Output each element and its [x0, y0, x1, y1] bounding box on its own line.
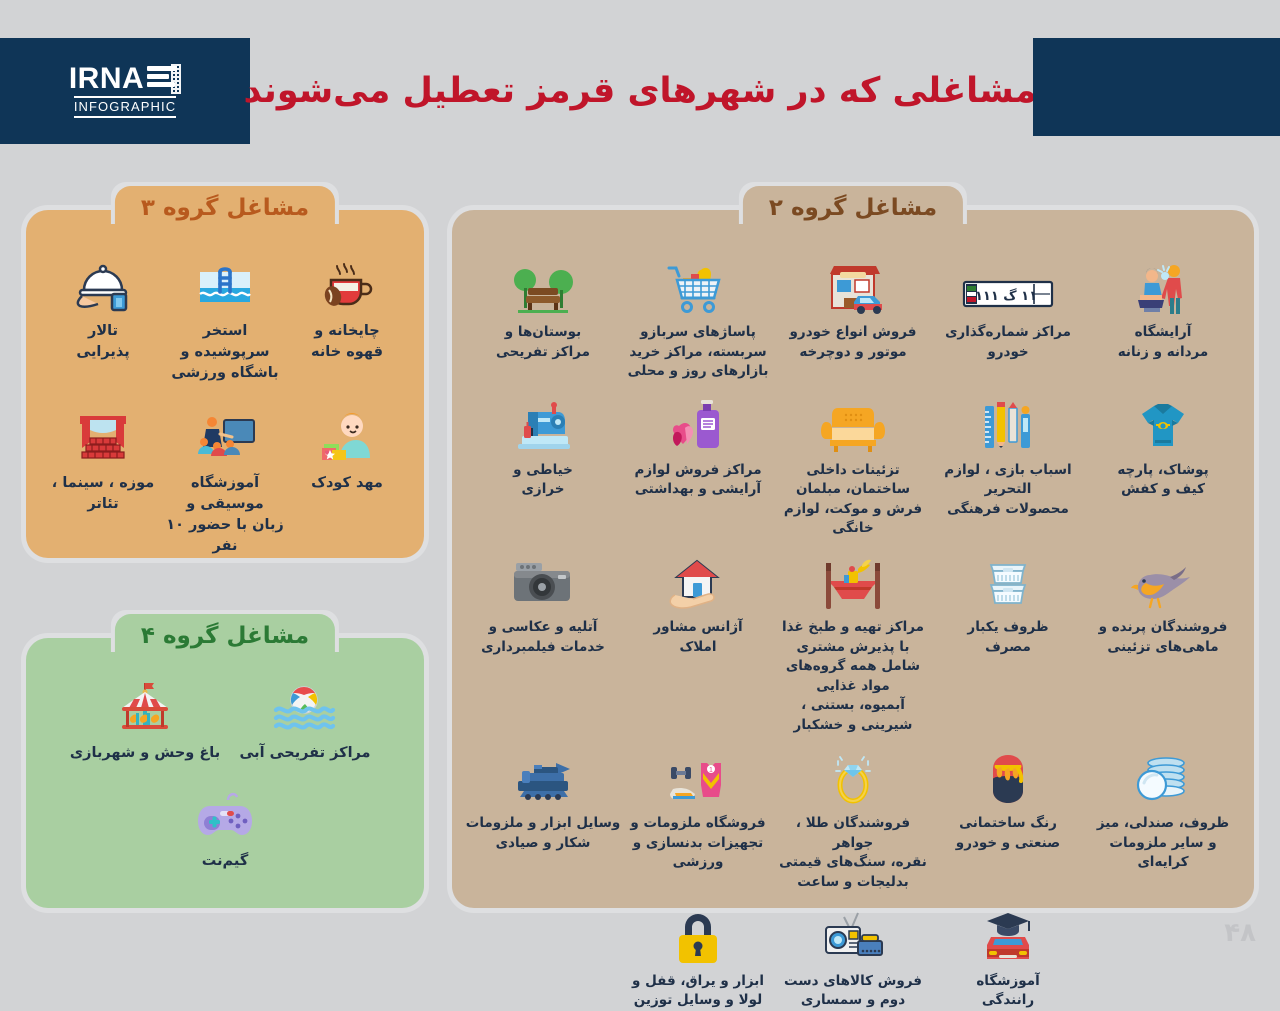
clothing-icon	[1132, 394, 1194, 456]
job-item: بوستان‌ها ومراکز تفریحی	[466, 256, 621, 362]
job-row: چایخانه وقهوه خانهاستخر سرپوشیده وباشگاه…	[40, 254, 410, 384]
job-item: آموزشگاه موسیقی وزبان با حضور ۱۰ نفر	[164, 406, 286, 557]
irna-wordmark: IRNA	[69, 64, 144, 94]
group-4-items: مراکز تفریحی آبیباغ وحش و شهربازیگیم‌نت	[26, 676, 424, 872]
job-item-label: فروشندگان پرنده وماهی‌های تزئینی	[1099, 618, 1228, 657]
jewelry-ring-icon	[824, 747, 882, 809]
carousel-icon	[110, 676, 180, 738]
job-item-label: آژانس مشاوراملاک	[653, 618, 742, 657]
job-item-label: فروش کالاهای دستدوم و سمساری	[784, 972, 922, 1011]
park-bench-icon	[508, 256, 578, 318]
job-item-label: ابزار و یراق، قفل ولولا و وسایل توزین	[632, 972, 764, 1011]
dishes-rental-icon	[1134, 747, 1192, 809]
job-item: اسباب بازی ، لوازم التحریرمحصولات فرهنگی	[931, 394, 1086, 520]
bird-icon	[1130, 551, 1196, 613]
job-row: گیم‌نت	[40, 784, 410, 872]
car-dealership-icon	[820, 256, 886, 318]
irna-logo-mark-icon	[147, 64, 181, 94]
license-plate-icon: ۱۱ گ ۱۱۱	[962, 256, 1054, 318]
job-item: استخر سرپوشیده وباشگاه ورزشی	[164, 254, 286, 384]
job-item: موزه ، سینما ، تئاتر	[42, 406, 164, 557]
job-row: ظروف، صندلی، میزو سایر ملزوماتکرایه‌ایرن…	[464, 747, 1242, 892]
job-item-label: پاساژهای سربازوسربسته، مراکز خریدبازارها…	[628, 323, 769, 382]
job-item-label: ظروف یکبارمصرف	[967, 618, 1048, 657]
page-title: مشاغلی که در شهرهای قرمز تعطیل می‌شوند	[260, 38, 1020, 144]
job-item-label: فروشندگان طلا ، جواهرنقره، سنگ‌های قیمتی…	[776, 814, 931, 892]
group-3-title: مشاغل گروه ۳	[115, 186, 335, 230]
job-item: ۱۱ گ ۱۱۱مراکز شماره‌گذاریخودرو	[931, 256, 1086, 362]
job-item-label: پوشاک، پارچهکیف و کفش	[1117, 461, 1208, 500]
shopping-cart-icon	[665, 256, 731, 318]
group-2-items: آرایشگاهمردانه و زنانه۱۱ گ ۱۱۱مراکز شمار…	[452, 256, 1254, 1011]
hunting-fishing-icon	[508, 747, 578, 809]
header-accent-block	[1033, 38, 1280, 136]
job-item: فروشندگان پرنده وماهی‌های تزئینی	[1086, 551, 1241, 657]
job-row: مراکز تفریحی آبیباغ وحش و شهربازی	[40, 676, 410, 764]
job-item: 1فروشگاه ملزومات وتجهیزات بدنسازی و ورزش…	[621, 747, 776, 873]
job-item-label: تزئینات داخلی ساختمان، مبلمانفرش و موکت،…	[776, 461, 931, 539]
job-item-label: موزه ، سینما ، تئاتر	[42, 473, 164, 515]
gamepad-icon	[194, 784, 256, 846]
paint-bucket-icon	[979, 747, 1037, 809]
job-item-label: فروش انواع خودروموتور و دوچرخه	[790, 323, 917, 362]
group-2-title: مشاغل گروه ۲	[743, 186, 963, 230]
job-row: پوشاک، پارچهکیف و کفشاسباب بازی ، لوازم …	[464, 394, 1242, 539]
job-item-label: گیم‌نت	[202, 851, 249, 872]
job-item-label: آموزشگاهرانندگی	[976, 972, 1039, 1011]
job-item: خیاطی وخرازی	[466, 394, 621, 500]
job-item: مهد کودک	[286, 406, 408, 557]
job-item-label: مهد کودک	[311, 473, 383, 494]
job-item: باغ وحش و شهربازی	[65, 676, 225, 764]
svg-text:۱۱ گ ۱۱۱: ۱۱ گ ۱۱۱	[975, 287, 1037, 304]
job-row: آموزشگاهرانندگیفروش کالاهای دستدوم و سمس…	[464, 905, 1242, 1011]
job-item: تزئینات داخلی ساختمان، مبلمانفرش و موکت،…	[776, 394, 931, 539]
music-language-school-icon	[190, 406, 260, 468]
job-item-label: ظروف، صندلی، میزو سایر ملزوماتکرایه‌ای	[1097, 814, 1229, 873]
group-2-panel: مشاغل گروه ۲ آرایشگاهمردانه و زنانه۱۱ گ …	[452, 210, 1254, 908]
job-item-label: استخر سرپوشیده وباشگاه ورزشی	[164, 321, 286, 384]
job-item-label: فروشگاه ملزومات وتجهیزات بدنسازی و ورزشی	[621, 814, 776, 873]
job-item: مراکز فروش لوازمآرایشی و بهداشتی	[621, 394, 776, 500]
job-item: فروش انواع خودروموتور و دوچرخه	[776, 256, 931, 362]
infographic-label: INFOGRAPHIC	[74, 96, 176, 118]
camera-icon	[510, 551, 576, 613]
svg-text:1: 1	[709, 767, 713, 774]
job-item-label: مراکز فروش لوازمآرایشی و بهداشتی	[634, 461, 761, 500]
job-row: آرایشگاهمردانه و زنانه۱۱ گ ۱۱۱مراکز شمار…	[464, 256, 1242, 382]
job-item: آرایشگاهمردانه و زنانه	[1086, 256, 1241, 362]
job-item: پاساژهای سربازوسربسته، مراکز خریدبازارها…	[621, 256, 776, 382]
job-item: چایخانه وقهوه خانه	[286, 254, 408, 384]
group-3-items: چایخانه وقهوه خانهاستخر سرپوشیده وباشگاه…	[26, 254, 424, 557]
job-item: ظروف یکبارمصرف	[931, 551, 1086, 657]
barbershop-icon	[1132, 256, 1194, 318]
water-park-icon	[270, 676, 340, 738]
job-item-label: آتلیه و عکاسی وخدمات فیلمبرداری	[481, 618, 605, 657]
theater-cinema-icon	[72, 406, 134, 468]
cosmetics-icon	[667, 394, 729, 456]
job-item: رنگ ساختمانیصنعتی و خودرو	[931, 747, 1086, 853]
job-item-label: آموزشگاه موسیقی وزبان با حضور ۱۰ نفر	[164, 473, 286, 557]
kindergarten-icon	[316, 406, 378, 468]
job-item-label: آرایشگاهمردانه و زنانه	[1118, 323, 1209, 362]
group-4-panel: مشاغل گروه ۴ مراکز تفریحی آبیباغ وحش و ش…	[26, 638, 424, 908]
job-item: ظروف، صندلی، میزو سایر ملزوماتکرایه‌ای	[1086, 747, 1241, 873]
job-item: ابزار و یراق، قفل ولولا و وسایل توزین	[621, 905, 776, 1011]
page-number-watermark: ۴۸	[1224, 918, 1256, 948]
job-item: گیم‌نت	[145, 784, 305, 872]
job-item: فروشندگان طلا ، جواهرنقره، سنگ‌های قیمتی…	[776, 747, 931, 892]
sports-equipment-icon: 1	[663, 747, 733, 809]
job-item-label: مراکز تفریحی آبی	[239, 743, 370, 764]
job-item: تالارپذیرایی	[42, 254, 164, 384]
job-item-label: مراکز شماره‌گذاریخودرو	[945, 323, 1071, 362]
job-row: مهد کودکآموزشگاه موسیقی وزبان با حضور ۱۰…	[40, 406, 410, 557]
job-item-label: خیاطی وخرازی	[513, 461, 573, 500]
job-item: مراکز تهیه و طبخ غذا با پذیرش مشتریشامل …	[776, 551, 931, 735]
job-item: فروش کالاهای دستدوم و سمساری	[776, 905, 931, 1011]
job-row: فروشندگان پرنده وماهی‌های تزئینیظروف یکب…	[464, 551, 1242, 735]
job-item-label: رنگ ساختمانیصنعتی و خودرو	[956, 814, 1060, 853]
job-item-label: باغ وحش و شهربازی	[70, 743, 220, 764]
job-item: آتلیه و عکاسی وخدمات فیلمبرداری	[466, 551, 621, 657]
group-4-title: مشاغل گروه ۴	[115, 614, 335, 658]
sewing-machine-icon	[512, 394, 574, 456]
padlock-icon	[669, 905, 727, 967]
job-item-label: وسایل ابزار و ملزوماتشکار و صیادی	[466, 814, 621, 853]
irna-logo-block: IRNA INFOGRAPHIC	[0, 38, 250, 144]
stationery-icon	[979, 394, 1037, 456]
job-item: آژانس مشاوراملاک	[621, 551, 776, 657]
real-estate-icon	[667, 551, 729, 613]
page-header: IRNA INFOGRAPHIC مشاغلی که در شهرهای قرم…	[0, 38, 1280, 144]
secondhand-goods-icon	[818, 905, 888, 967]
job-item: وسایل ابزار و ملزوماتشکار و صیادی	[466, 747, 621, 853]
job-item-label: بوستان‌ها ومراکز تفریحی	[496, 323, 590, 362]
job-item: مراکز تفریحی آبی	[225, 676, 385, 764]
group-3-panel: مشاغل گروه ۳ چایخانه وقهوه خانهاستخر سرپ…	[26, 210, 424, 558]
armchair-icon	[820, 394, 886, 456]
job-item-label: اسباب بازی ، لوازم التحریرمحصولات فرهنگی	[931, 461, 1086, 520]
job-item: پوشاک، پارچهکیف و کفش	[1086, 394, 1241, 500]
disposable-container-icon	[979, 551, 1037, 613]
job-item-label: مراکز تهیه و طبخ غذا با پذیرش مشتریشامل …	[776, 618, 931, 735]
tea-coffee-icon	[317, 254, 377, 316]
driving-school-icon	[975, 905, 1041, 967]
job-item: آموزشگاهرانندگی	[931, 905, 1086, 1011]
banquet-hall-icon	[72, 254, 134, 316]
swimming-pool-icon	[194, 254, 256, 316]
job-item-label: تالارپذیرایی	[76, 321, 129, 363]
job-item-label: چایخانه وقهوه خانه	[311, 321, 383, 363]
restaurant-table-icon	[818, 551, 888, 613]
